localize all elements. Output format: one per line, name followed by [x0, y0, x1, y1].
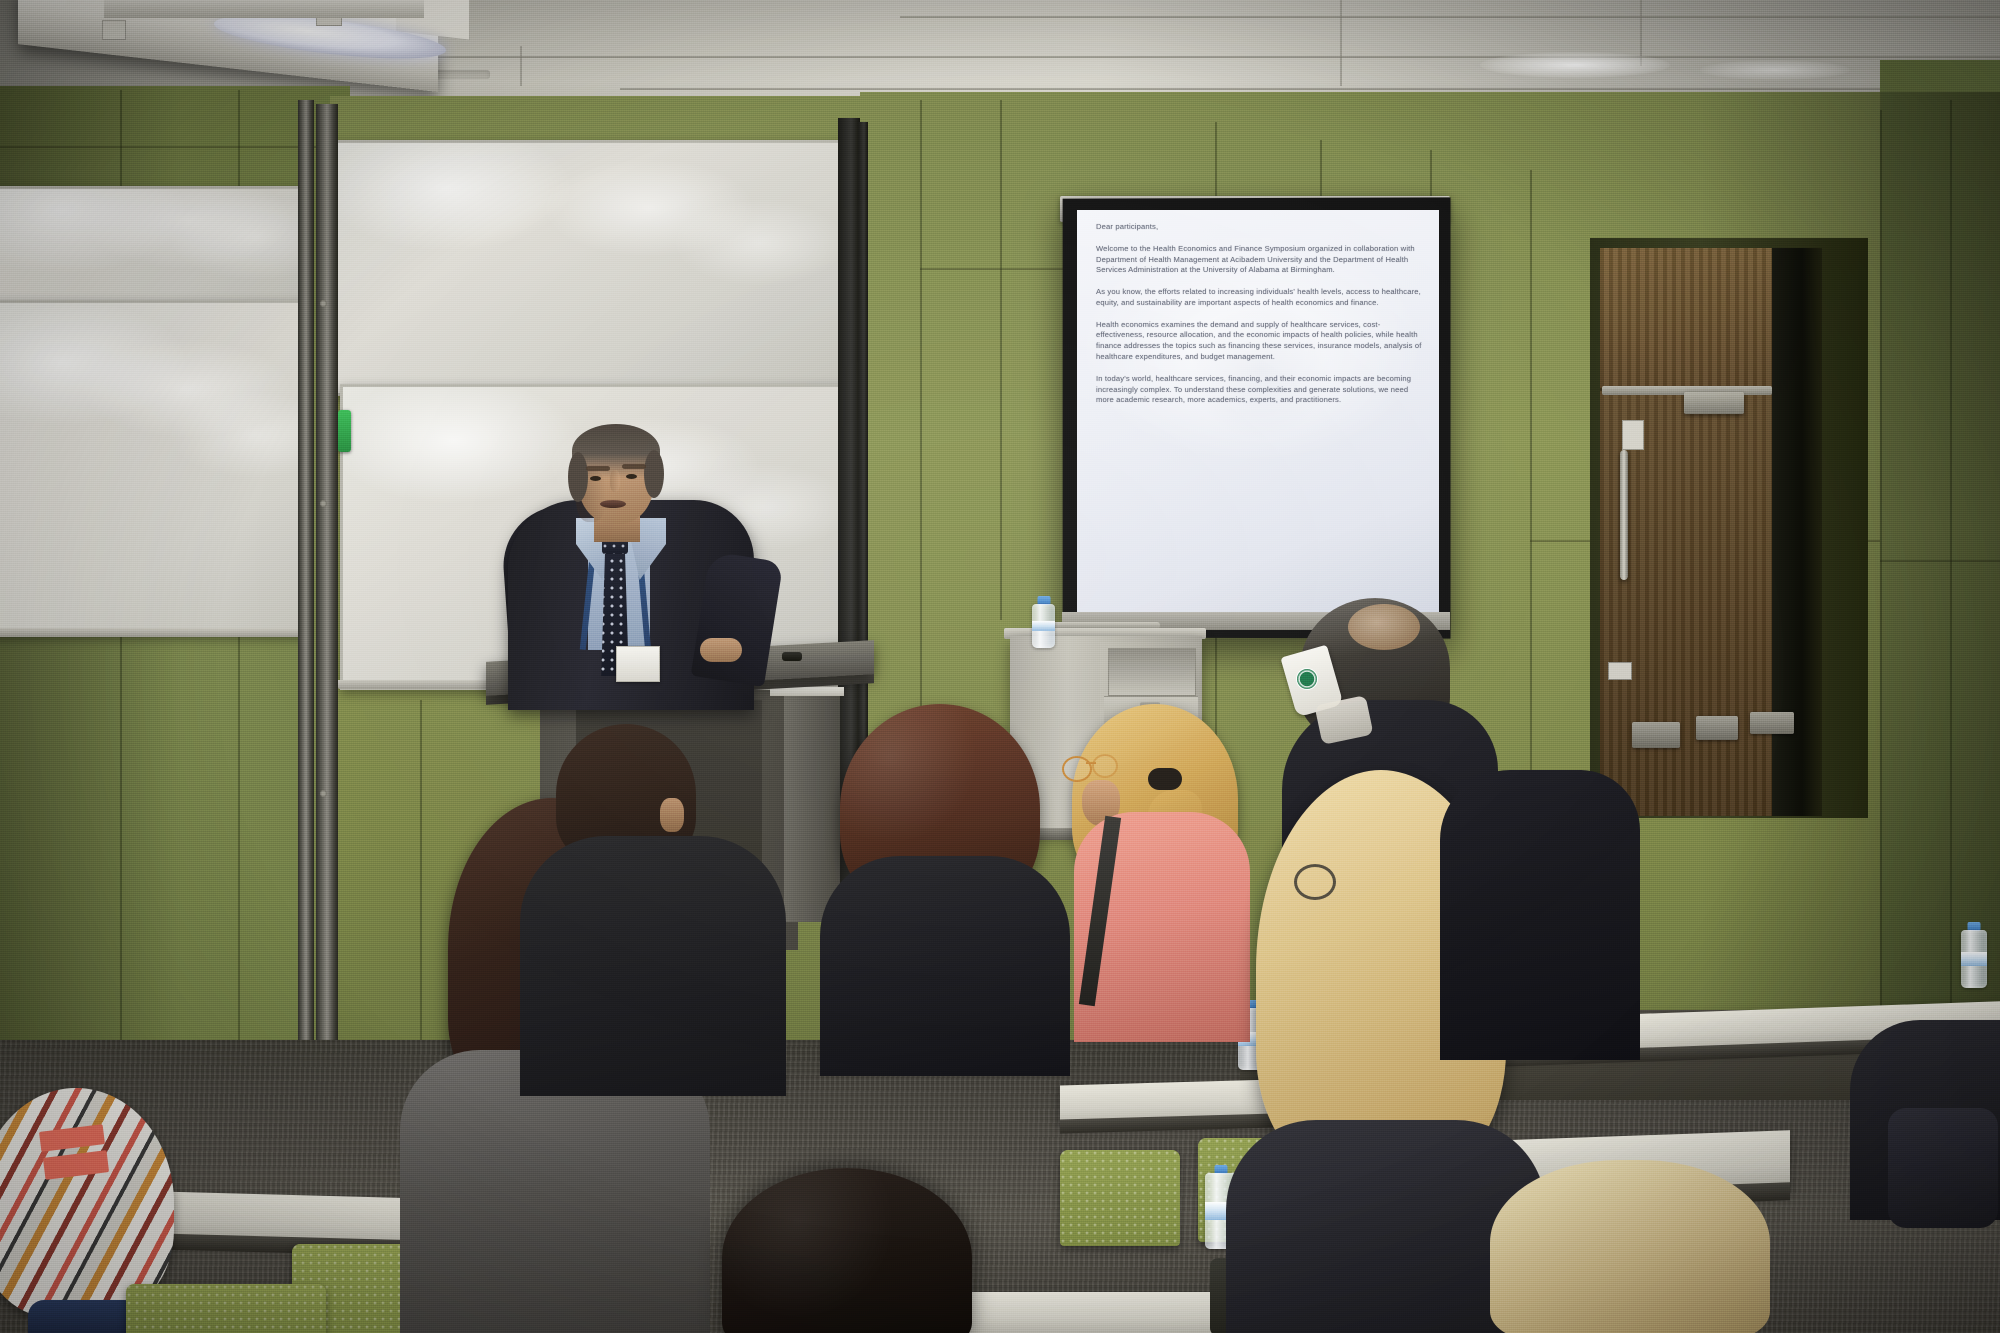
whiteboard-center-upper: [332, 140, 844, 396]
attendee-ear: [660, 798, 684, 832]
slide-paragraph-3: Health economics examines the demand and…: [1096, 320, 1426, 363]
ceiling-light: [1700, 60, 1850, 80]
bottle-body: [1961, 930, 1987, 988]
speaker-hair: [644, 450, 664, 498]
speaker-eye: [626, 474, 637, 479]
speaker-nose: [610, 470, 620, 492]
slide-paragraph-4: In today's world, healthcare services, f…: [1096, 374, 1426, 406]
divider-screw: [320, 790, 327, 797]
podium-cable-clip: [782, 652, 802, 661]
speaker-eyebrow: [586, 466, 610, 471]
attendee-suit-jacket: [1440, 770, 1640, 1060]
ceiling-light: [1480, 52, 1670, 78]
wall-bracket: [1750, 712, 1794, 734]
door-handle[interactable]: [1620, 450, 1628, 580]
water-bottle[interactable]: [1032, 596, 1055, 648]
eyeglasses-lens: [1294, 864, 1336, 900]
attendee-hair: [722, 1168, 972, 1333]
ceiling-seam: [1340, 0, 1342, 86]
whiteboard-marker-tray: [0, 628, 308, 637]
whiteboard-far-left-lower: [0, 300, 308, 636]
attendee-bald-spot: [1348, 604, 1420, 650]
projector-vent-grille: [104, 0, 424, 18]
eyeglasses-lens: [1062, 756, 1092, 782]
attendee-hair: [1490, 1160, 1770, 1333]
bottle-label: [1961, 952, 1987, 966]
wall-seam: [1000, 100, 1002, 620]
whiteboard-far-left-upper: [0, 186, 308, 312]
water-bottle[interactable]: [1961, 922, 1987, 988]
podium-side-panel: [784, 690, 840, 922]
attendee-jacket: [520, 836, 786, 1096]
slide-salutation: Dear participants,: [1096, 222, 1426, 233]
ceiling-seam: [420, 56, 2000, 58]
speaker-hair: [568, 452, 588, 502]
projector-bracket: [102, 20, 126, 40]
speaker-hand: [700, 638, 742, 662]
attendee-jacket: [820, 856, 1070, 1076]
slide-paragraph-2: As you know, the efforts related to incr…: [1096, 287, 1426, 309]
speaker-eyebrow: [622, 464, 646, 469]
ceiling-seam: [900, 16, 2000, 18]
door-sign: [1608, 662, 1632, 680]
wall-bracket: [1632, 722, 1680, 748]
ceiling-seam: [620, 88, 2000, 90]
attendee-shoulders: [28, 1300, 140, 1333]
speaker-eye: [590, 476, 601, 481]
wall-divider-column: [298, 100, 314, 1140]
bottle-body: [1032, 604, 1055, 648]
eyeglasses-bridge: [1086, 762, 1096, 764]
conference-chair[interactable]: [126, 1284, 326, 1333]
bottle-label: [1032, 621, 1055, 632]
door-lock-plate: [1622, 420, 1644, 450]
wall-divider-column: [316, 104, 338, 1140]
eyeglasses-lens: [1092, 754, 1118, 778]
ceiling-seam: [520, 46, 522, 86]
green-marker[interactable]: [338, 410, 351, 452]
hair-tie: [1148, 768, 1182, 790]
cabinet-open-shelf: [1108, 648, 1196, 696]
conference-chair[interactable]: [1060, 1150, 1180, 1246]
slide-paragraph-1: Welcome to the Health Economics and Fina…: [1096, 244, 1426, 276]
conference-name-badge: [616, 646, 660, 682]
conference-room-photo: Dear participants, Welcome to the Health…: [0, 0, 2000, 1333]
divider-screw: [320, 300, 327, 307]
speaker-mouth: [600, 500, 626, 508]
door-closer-body: [1684, 392, 1744, 414]
backpack: [1888, 1108, 1998, 1228]
door-transom-panel: [1600, 248, 1772, 391]
slide-text-block: Dear participants, Welcome to the Health…: [1096, 222, 1426, 417]
divider-screw: [320, 500, 327, 507]
wall-bracket: [1696, 716, 1738, 740]
